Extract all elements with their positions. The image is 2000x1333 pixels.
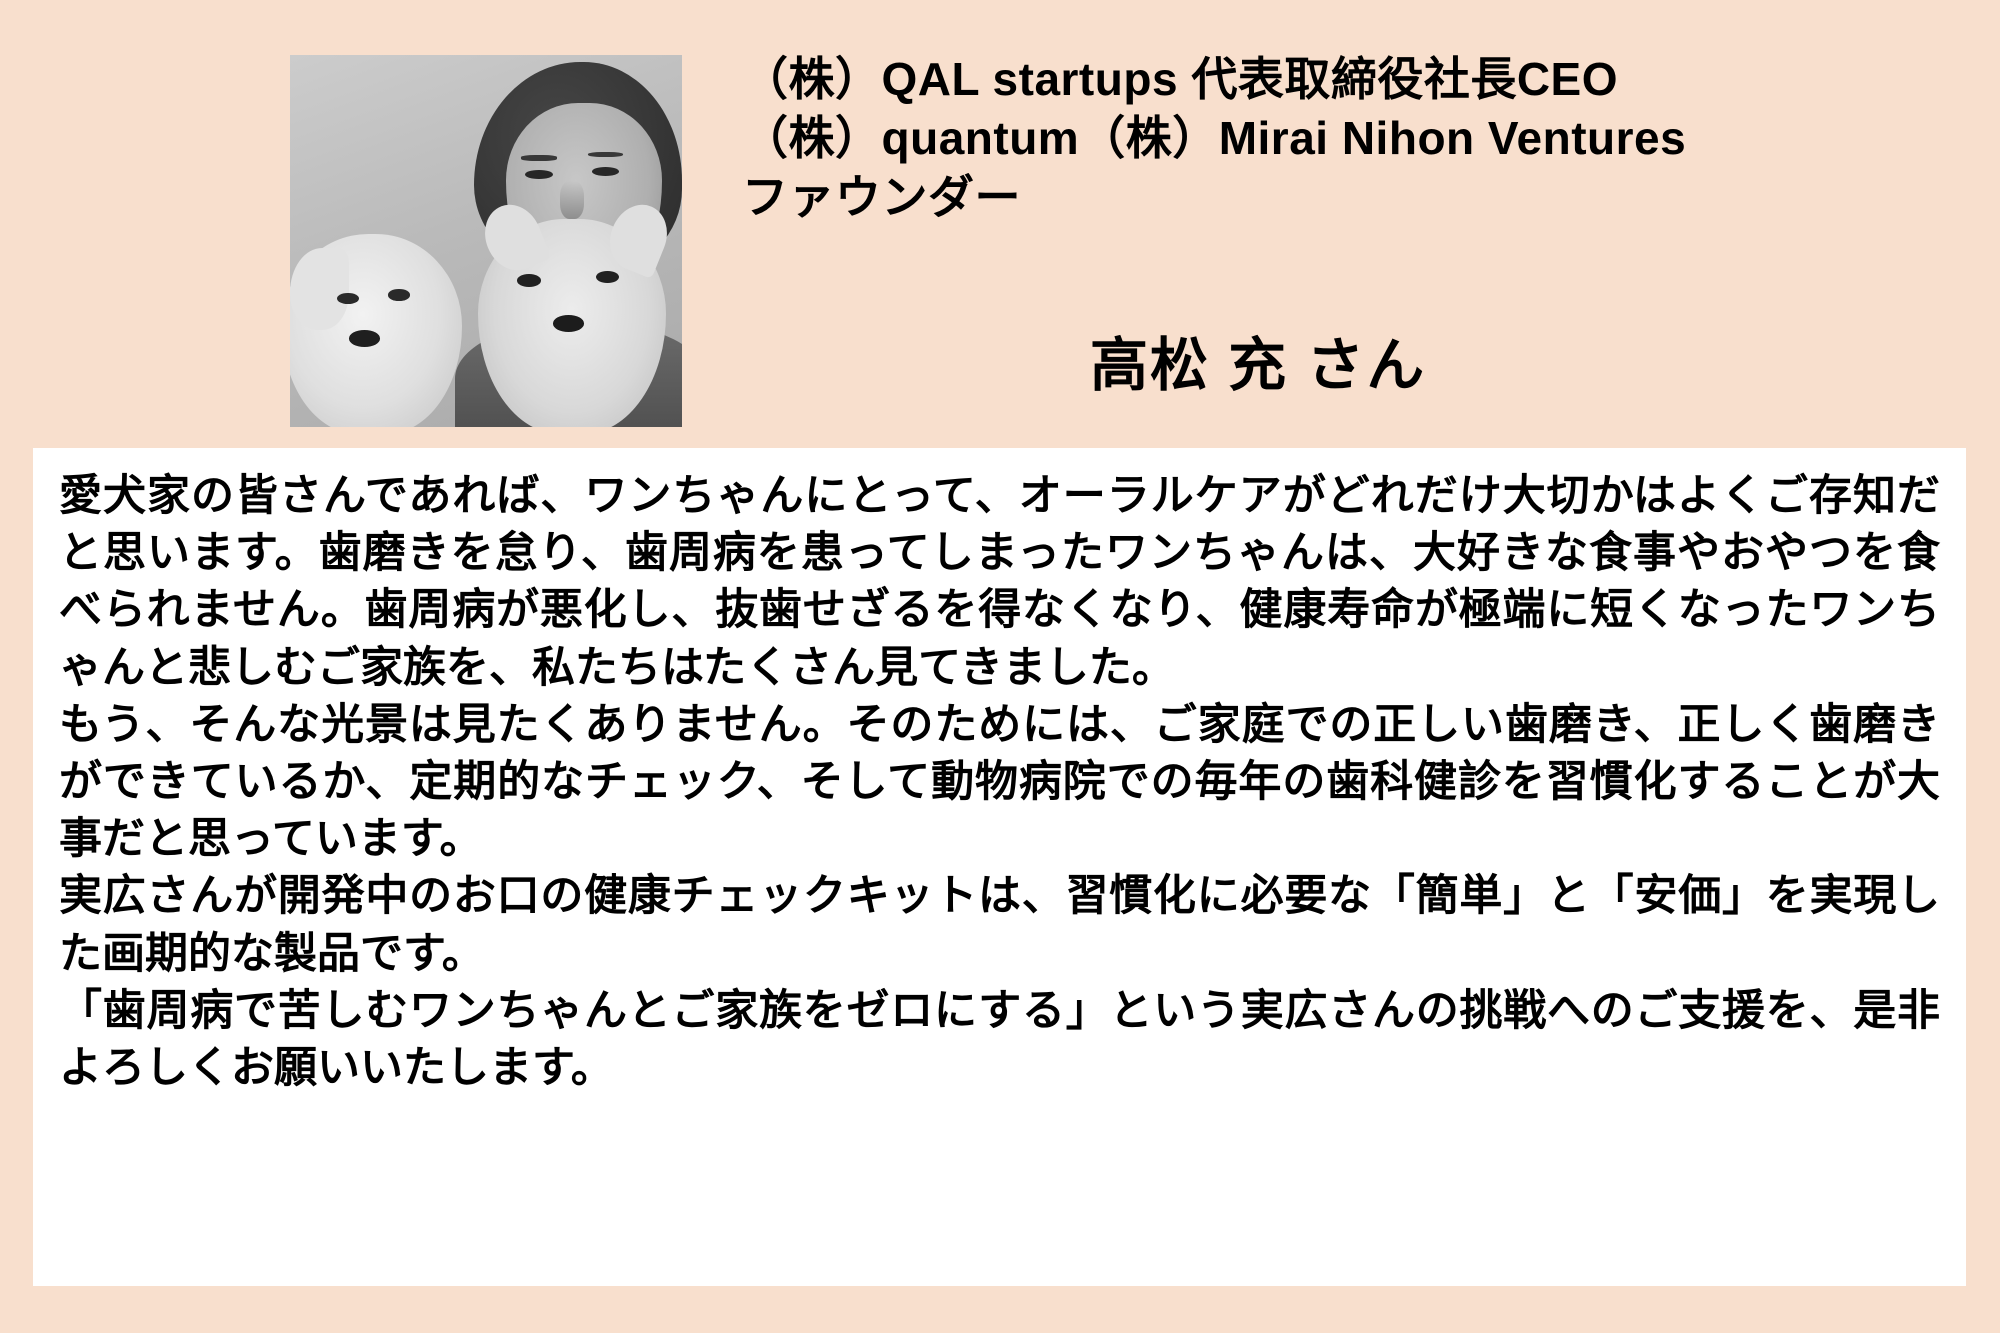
dog-right-eye-left: [517, 274, 541, 287]
person-name: 高松 充 さん: [1090, 318, 1426, 402]
person-eye-right: [592, 167, 619, 176]
person-eyebrow-left: [521, 155, 556, 160]
dog-left-eye-left: [337, 293, 359, 304]
body-paragraph-2: もう、そんな光景は見たくありません。そのためには、ご家庭での正しい歯磨き、正しく…: [59, 697, 1940, 869]
testimonial-card: 愛犬家の皆さんであれば、ワンちゃんにとって、オーラルケアがどれだけ大切かはよくご…: [33, 448, 1966, 1286]
body-paragraph-1: 愛犬家の皆さんであれば、ワンちゃんにとって、オーラルケアがどれだけ大切かはよくご…: [59, 468, 1940, 697]
title-line-1: （株）QAL startups 代表取締役社長CEO: [742, 50, 1972, 109]
dog-right-nose: [553, 315, 584, 332]
dog-left-eye-right: [388, 289, 410, 300]
title-line-3: ファウンダー: [742, 168, 1972, 227]
body-paragraph-3: 実広さんが開発中のお口の健康チェックキットは、習慣化に必要な「簡単」と「安価」を…: [59, 868, 1940, 982]
slide-root: （株）QAL startups 代表取締役社長CEO （株）quantum（株）…: [0, 0, 2000, 1333]
person-eyebrow-right: [588, 152, 623, 157]
body-paragraph-4: 「歯周病で苦しむワンちゃんとご家族をゼロにする」という実広さんの挑戦へのご支援を…: [59, 983, 1940, 1097]
header-section: （株）QAL startups 代表取締役社長CEO （株）quantum（株）…: [0, 0, 2000, 440]
portrait-photo: [290, 55, 682, 427]
title-line-2: （株）quantum（株）Mirai Nihon Ventures: [742, 109, 1972, 168]
dog-left-nose: [349, 330, 380, 347]
header-title-block: （株）QAL startups 代表取締役社長CEO （株）quantum（株）…: [742, 50, 1972, 227]
person-nose: [560, 181, 584, 218]
dog-left-ear: [290, 248, 349, 330]
